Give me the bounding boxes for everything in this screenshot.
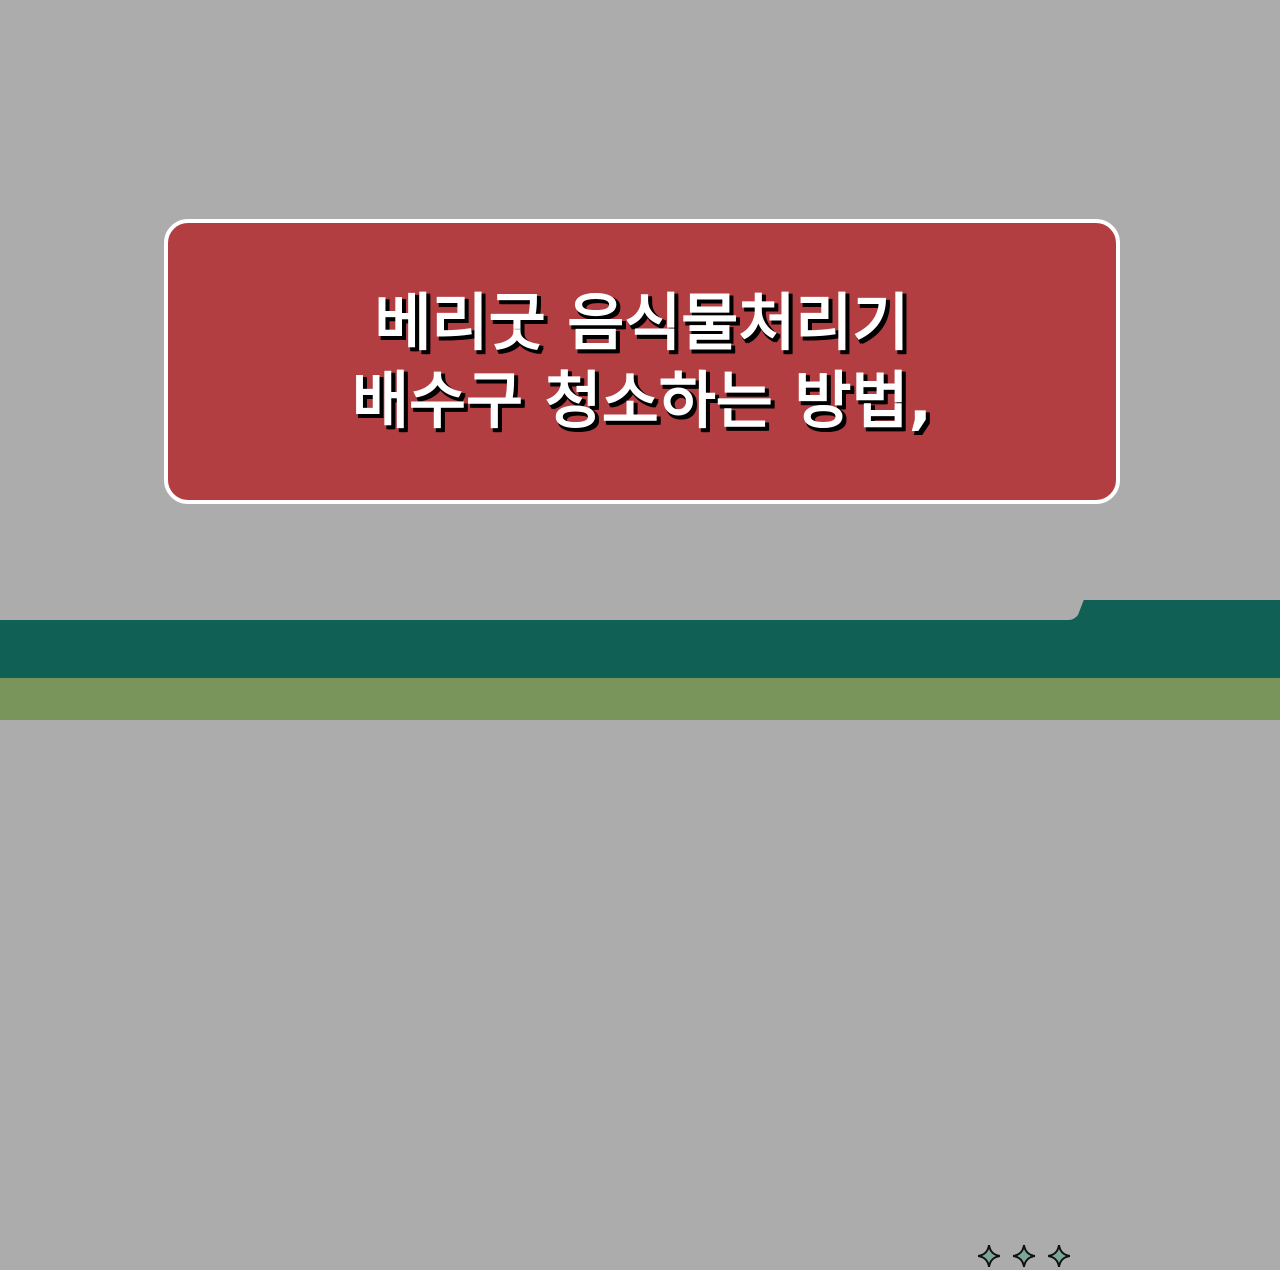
bottom-decoration — [0, 600, 1280, 720]
diamond-icon — [976, 1243, 1002, 1269]
diamond-icon — [1011, 1243, 1037, 1269]
green-band — [0, 678, 1280, 720]
teal-band-shape — [0, 600, 1280, 720]
diamond-icon — [1046, 1243, 1072, 1269]
thumbnail-canvas: 베리굿 음식물처리기 배수구 청소하는 방법, — [0, 0, 1280, 720]
teal-band — [0, 600, 1280, 678]
title-card: 베리굿 음식물처리기 배수구 청소하는 방법, — [164, 219, 1120, 504]
title-text: 베리굿 음식물처리기 배수구 청소하는 방법, — [342, 284, 942, 440]
diamond-row — [976, 1242, 1072, 1270]
